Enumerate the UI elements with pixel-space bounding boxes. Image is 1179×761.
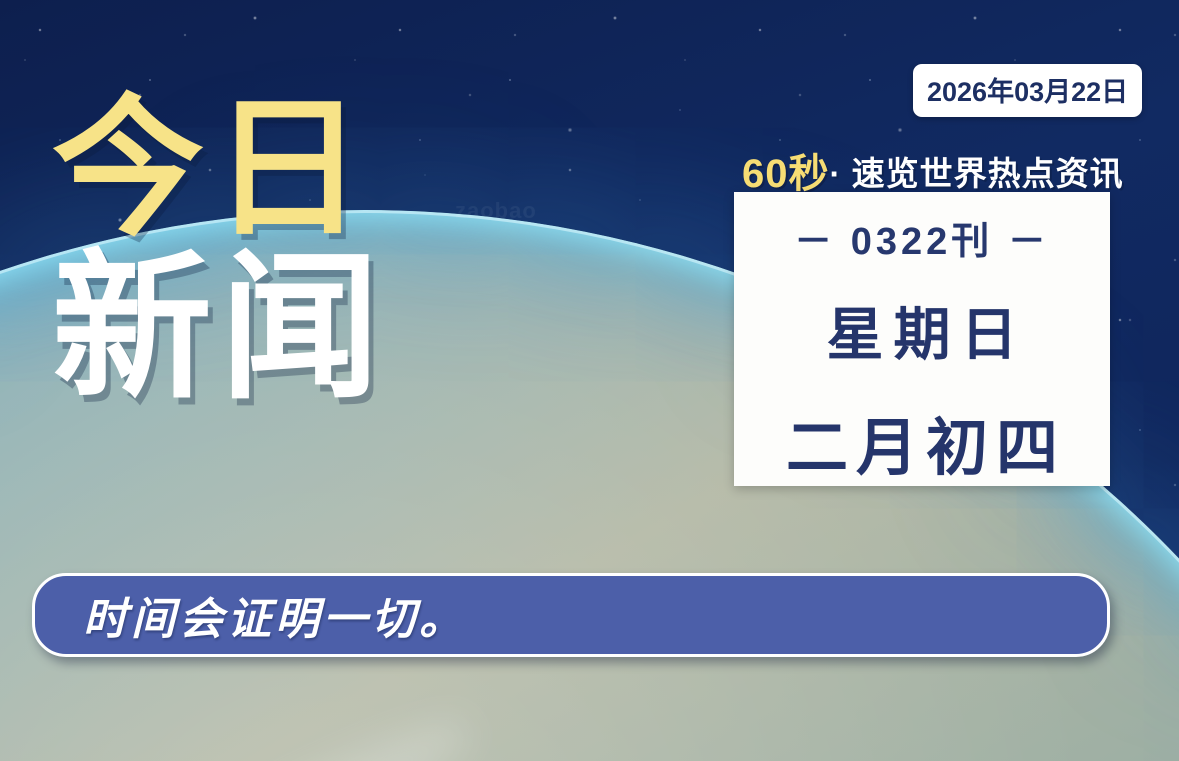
- quote-text: 时间会证明一切。: [83, 583, 467, 647]
- date-info-card: － 0322刊 － 星期日 二月初四: [734, 192, 1110, 486]
- title-line-news: 新闻: [52, 250, 472, 407]
- weekday-label: 星期日: [817, 289, 1028, 371]
- date-badge: 2026年03月22日: [913, 64, 1142, 117]
- lunar-date-label: 二月初四: [778, 397, 1066, 487]
- title-line-today: 今日: [52, 95, 472, 244]
- tagline: 60秒· 速览世界热点资讯: [742, 141, 1124, 199]
- quote-banner: 时间会证明一切。: [32, 573, 1110, 657]
- tagline-rest: · 速览世界热点资讯: [830, 155, 1124, 192]
- poster-title: 今日 新闻: [52, 95, 472, 407]
- issue-number: － 0322刊 －: [794, 210, 1050, 265]
- tagline-seconds: 60秒: [742, 152, 830, 196]
- news-poster: zaobao 今日 新闻 2026年03月22日 60秒· 速览世界热点资讯 －…: [0, 0, 1179, 761]
